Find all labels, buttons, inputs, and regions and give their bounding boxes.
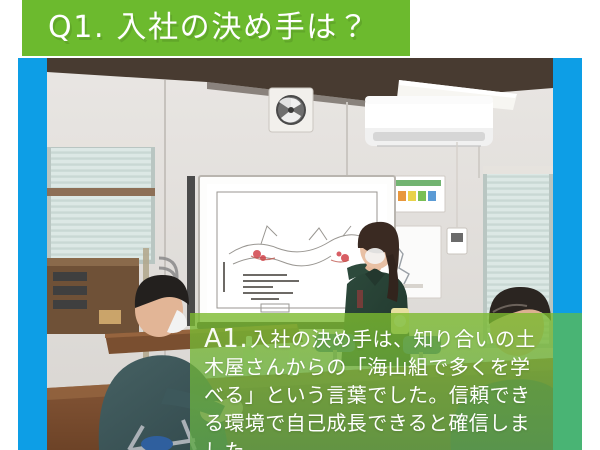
answer-label: A1. <box>204 325 248 353</box>
answer-overlay: A1. 入社の決め手は、知り合いの土木屋さんからの「海山組で多くを学べる」という… <box>190 313 553 450</box>
accent-bar-right-bottom <box>553 313 582 450</box>
question-banner: Q1. 入社の決め手は？ <box>22 0 410 56</box>
accent-bar-right-top <box>553 58 582 313</box>
accent-bar-left <box>18 58 47 450</box>
qa-card: Q1. 入社の決め手は？ A1. 入社の決め手は、知り合いの土木屋さんからの「海… <box>0 0 600 450</box>
question-label: Q1. 入社の決め手は？ <box>48 13 370 43</box>
answer-body: 入社の決め手は、知り合いの土木屋さんからの「海山組で多くを学べる」という言葉でし… <box>204 327 536 450</box>
